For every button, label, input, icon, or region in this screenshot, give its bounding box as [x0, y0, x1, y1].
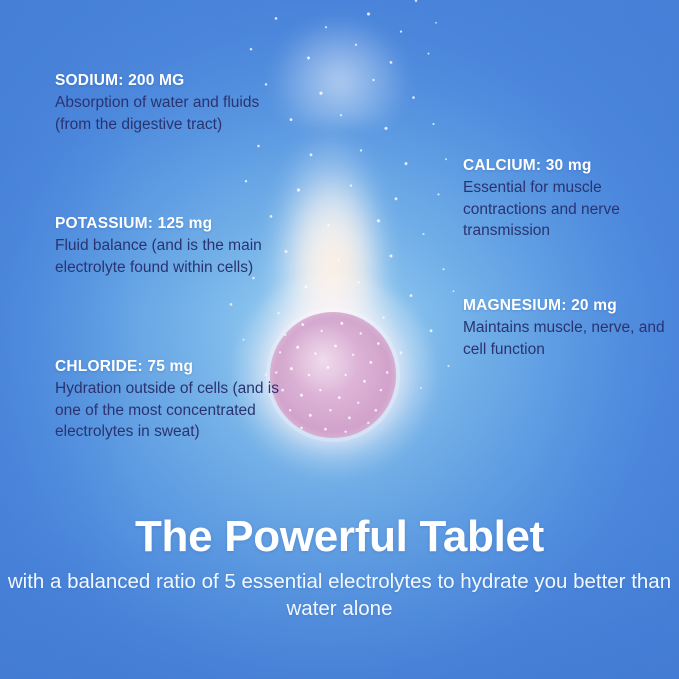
nutrient-heading-sodium: SODIUM: 200 MG — [55, 72, 270, 90]
nutrient-body-chloride: Hydration outside of cells (and is one o… — [55, 378, 280, 443]
nutrient-heading-chloride: CHLORIDE: 75 mg — [55, 358, 280, 376]
tablet-body — [270, 312, 396, 438]
footer-section: The Powerful Tablet with a balanced rati… — [0, 512, 679, 622]
tablet-rim-highlight — [266, 308, 400, 442]
nutrient-heading-calcium: CALCIUM: 30 mg — [463, 157, 663, 175]
nutrient-body-potassium: Fluid balance (and is the main electroly… — [55, 235, 270, 278]
nutrient-block-potassium: POTASSIUM: 125 mg Fluid balance (and is … — [55, 215, 270, 278]
nutrient-heading-magnesium: MAGNESIUM: 20 mg — [463, 297, 668, 315]
nutrient-body-sodium: Absorption of water and fluids (from the… — [55, 92, 270, 135]
nutrient-body-calcium: Essential for muscle contractions and ne… — [463, 177, 663, 242]
nutrient-block-sodium: SODIUM: 200 MG Absorption of water and f… — [55, 72, 270, 135]
nutrient-heading-potassium: POTASSIUM: 125 mg — [55, 215, 270, 233]
footer-subtitle: with a balanced ratio of 5 essential ele… — [0, 568, 679, 622]
footer-title: The Powerful Tablet — [0, 512, 679, 562]
nutrient-block-magnesium: MAGNESIUM: 20 mg Maintains muscle, nerve… — [463, 297, 668, 360]
nutrient-block-chloride: CHLORIDE: 75 mg Hydration outside of cel… — [55, 358, 280, 443]
product-infographic: SODIUM: 200 MG Absorption of water and f… — [0, 0, 679, 679]
nutrient-block-calcium: CALCIUM: 30 mg Essential for muscle cont… — [463, 157, 663, 242]
nutrient-body-magnesium: Maintains muscle, nerve, and cell functi… — [463, 317, 668, 360]
effervescent-tablet — [258, 300, 410, 452]
